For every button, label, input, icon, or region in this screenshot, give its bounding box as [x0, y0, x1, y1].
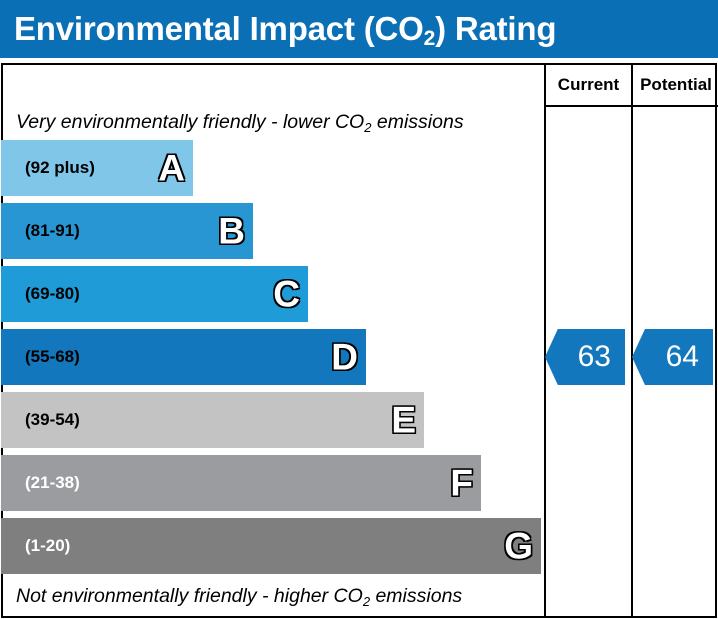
band-range-label-c: (69-80) — [25, 284, 80, 304]
band-letter-e: E — [391, 402, 416, 439]
rating-band-c: (69-80)C — [1, 266, 308, 322]
current-rating-arrow: 63 — [545, 329, 625, 385]
rating-band-f: (21-38)F — [1, 455, 481, 511]
band-letter-g: G — [504, 528, 533, 565]
caption-top-subscript: 2 — [364, 120, 371, 135]
band-letter-f: F — [450, 465, 473, 502]
potential-rating-value: 64 — [666, 340, 699, 374]
caption-bottom-suffix: emissions — [370, 585, 462, 607]
caption-not-friendly: Not environmentally friendly - higher CO… — [16, 585, 462, 608]
environmental-impact-rating-chart: Environmental Impact (CO2) Rating Curren… — [0, 0, 718, 619]
caption-top-suffix: emissions — [371, 111, 463, 133]
current-column-divider — [544, 65, 546, 616]
caption-bottom-subscript: 2 — [363, 594, 370, 609]
page-title-subscript: 2 — [424, 27, 435, 50]
rating-band-d: (55-68)D — [1, 329, 366, 385]
rating-band-e: (39-54)E — [1, 392, 424, 448]
band-letter-d: D — [331, 339, 358, 376]
chart-title-bar: Environmental Impact (CO2) Rating — [0, 0, 718, 58]
column-header-divider — [544, 105, 718, 107]
rating-band-a: (92 plus)A — [1, 140, 193, 196]
band-letter-c: C — [273, 276, 300, 313]
band-letter-a: A — [158, 150, 185, 187]
rating-band-b: (81-91)B — [1, 203, 253, 259]
page-title-suffix: ) Rating — [435, 10, 556, 47]
current-rating-value: 63 — [578, 340, 611, 374]
caption-top-prefix: Very environmentally friendly - lower CO — [16, 111, 364, 133]
band-letter-b: B — [218, 213, 245, 250]
rating-band-g: (1-20)G — [1, 518, 541, 574]
column-header-potential: Potential — [633, 65, 718, 105]
band-range-label-d: (55-68) — [25, 347, 80, 367]
page-title-prefix: Environmental Impact (CO — [14, 10, 424, 47]
band-range-label-e: (39-54) — [25, 410, 80, 430]
caption-very-friendly: Very environmentally friendly - lower CO… — [16, 111, 464, 134]
band-range-label-g: (1-20) — [25, 536, 70, 556]
band-range-label-f: (21-38) — [25, 473, 80, 493]
caption-bottom-prefix: Not environmentally friendly - higher CO — [16, 585, 363, 607]
page-title: Environmental Impact (CO2) Rating — [14, 10, 556, 48]
band-range-label-b: (81-91) — [25, 221, 80, 241]
column-header-current: Current — [546, 65, 631, 105]
potential-rating-arrow: 64 — [632, 329, 713, 385]
band-range-label-a: (92 plus) — [25, 158, 95, 178]
potential-column-divider — [631, 65, 633, 616]
